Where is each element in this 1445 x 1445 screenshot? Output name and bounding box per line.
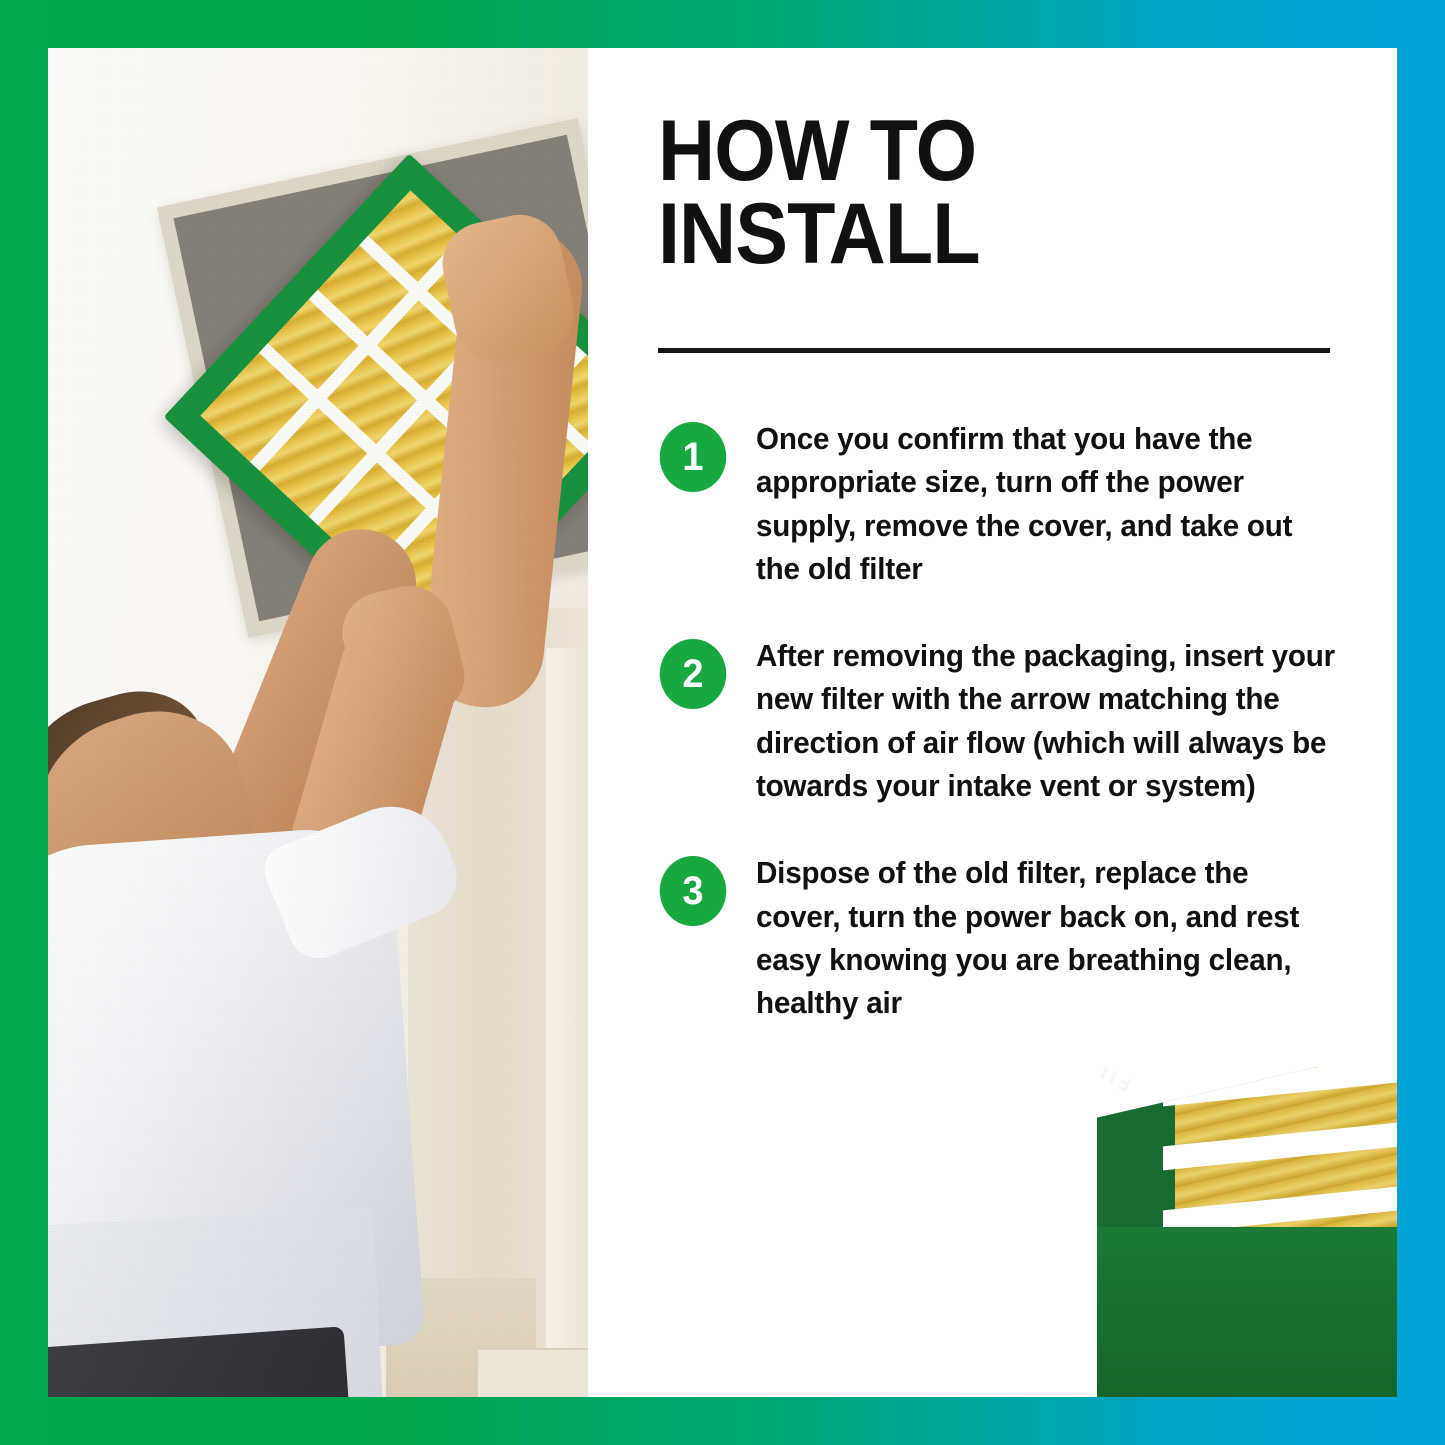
step-item: 1 Once you confirm that you have the app… (658, 418, 1358, 591)
content-card: FILTERBUY HOW TO INSTALL 1 Once you conf… (48, 48, 1397, 1397)
step-number-badge: 2 (660, 639, 727, 709)
instructions-panel: HOW TO INSTALL 1 Once you confirm that y… (588, 48, 1397, 1397)
step-item: 2 After removing the packaging, insert y… (658, 635, 1358, 808)
page-title-line-2: INSTALL (658, 193, 1357, 276)
page-title-line-1: HOW TO (658, 110, 1357, 193)
page-title: HOW TO INSTALL (658, 110, 1357, 275)
wall-corner-highlight (546, 648, 588, 1397)
step-description: Dispose of the old filter, replace the c… (756, 852, 1338, 1025)
title-divider (658, 348, 1330, 353)
step-description: After removing the packaging, insert you… (756, 635, 1338, 808)
installation-photo: FILTERBUY (48, 48, 588, 1397)
product-brand-label: FILTERBUY (1097, 1067, 1135, 1095)
baseboard (478, 1348, 588, 1397)
steps-list: 1 Once you confirm that you have the app… (658, 418, 1358, 1070)
step-number-badge: 1 (660, 422, 727, 492)
step-item: 3 Dispose of the old filter, replace the… (658, 852, 1358, 1025)
product-filter-image: AIR FLOW FILTERBUY (1097, 1067, 1397, 1397)
step-description: Once you confirm that you have the appro… (756, 418, 1338, 591)
step-number-badge: 3 (660, 856, 727, 926)
filter-front-face: AIR FLOW (1097, 1227, 1397, 1397)
